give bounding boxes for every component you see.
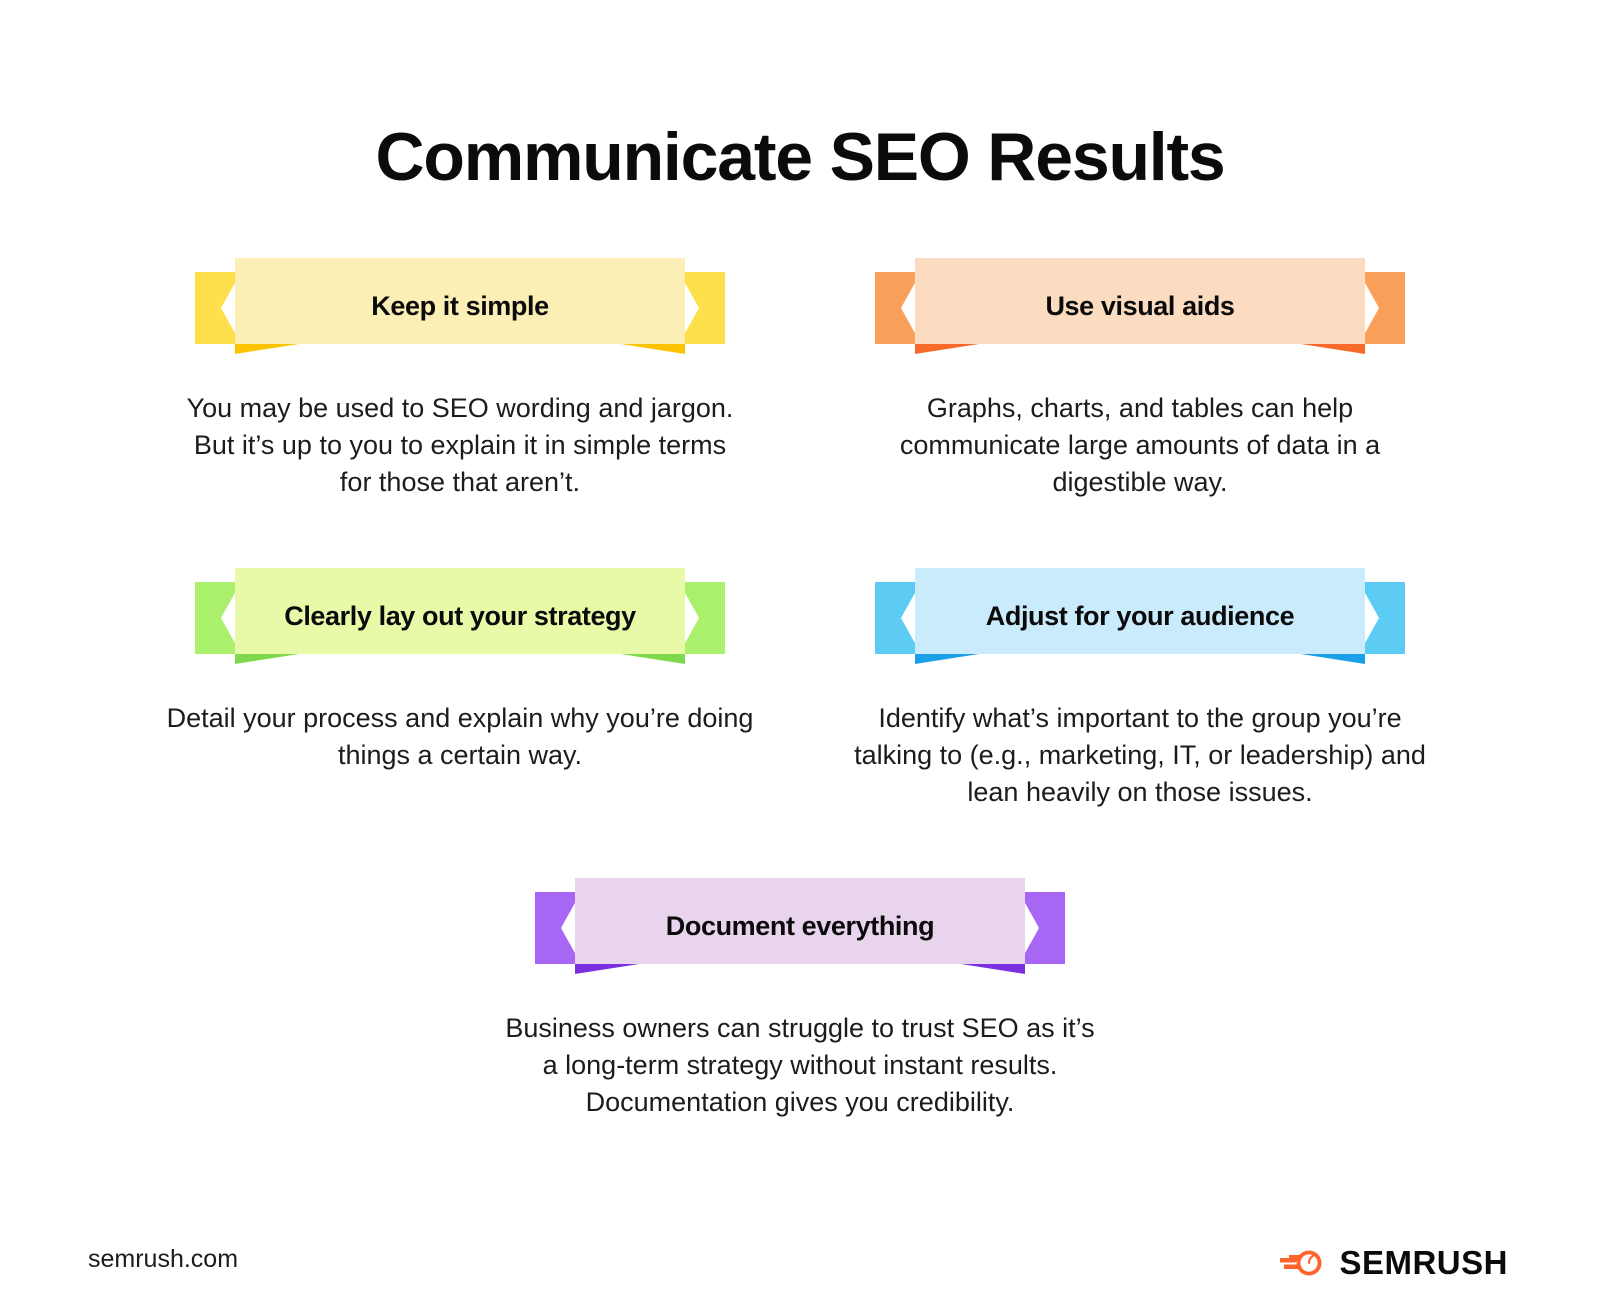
ribbon-center-band — [235, 258, 685, 344]
footer: semrush.com SEMRUSH — [0, 1196, 1600, 1316]
ribbon-shadow-left — [575, 964, 639, 974]
semrush-comet-icon — [1279, 1246, 1325, 1280]
tips-row-1: Keep it simple You may be used to SEO wo… — [0, 258, 1600, 528]
ribbon-shadow-left — [915, 344, 979, 354]
ribbon-shadow-right — [621, 344, 685, 354]
ribbon-wing-left — [535, 892, 581, 964]
tip-body: You may be used to SEO wording and jargo… — [180, 390, 740, 501]
tips-row-3: Document everything Business owners can … — [0, 878, 1600, 1148]
ribbon-shadow-left — [235, 344, 299, 354]
ribbon-shadow-left — [235, 654, 299, 664]
ribbon-shadow-right — [961, 964, 1025, 974]
ribbon-banner-adjust-for-your-audience: Adjust for your audience — [875, 568, 1405, 678]
tip-card-adjust-for-your-audience: Adjust for your audience Identify what’s… — [830, 568, 1450, 838]
ribbon-shadow-right — [1301, 344, 1365, 354]
ribbon-center-band — [235, 568, 685, 654]
ribbon-banner-clearly-lay-out-your-strategy: Clearly lay out your strategy — [195, 568, 725, 678]
ribbon-shape-icon — [195, 568, 725, 678]
ribbon-wing-right — [1359, 582, 1405, 654]
ribbon-shadow-right — [1301, 654, 1365, 664]
brand-logo[interactable]: SEMRUSH — [1279, 1244, 1508, 1282]
ribbon-center-band — [575, 878, 1025, 964]
ribbon-shape-icon — [875, 568, 1405, 678]
ribbon-shadow-left — [915, 654, 979, 664]
tip-body: Detail your process and explain why you’… — [160, 700, 760, 774]
ribbon-shape-icon — [875, 258, 1405, 368]
ribbon-wing-left — [875, 272, 921, 344]
ribbon-center-band — [915, 258, 1365, 344]
site-url[interactable]: semrush.com — [88, 1245, 238, 1274]
tip-body: Business owners can struggle to trust SE… — [500, 1010, 1100, 1121]
tip-body: Graphs, charts, and tables can help comm… — [860, 390, 1420, 501]
tips-row-2: Clearly lay out your strategy Detail you… — [0, 568, 1600, 838]
tip-card-keep-it-simple: Keep it simple You may be used to SEO wo… — [150, 258, 770, 528]
page-title: Communicate SEO Results — [0, 120, 1600, 195]
ribbon-wing-right — [1019, 892, 1065, 964]
brand-wordmark: SEMRUSH — [1339, 1244, 1508, 1282]
ribbon-center-band — [915, 568, 1365, 654]
ribbon-wing-right — [679, 272, 725, 344]
ribbon-shape-icon — [535, 878, 1065, 988]
ribbon-wing-left — [875, 582, 921, 654]
ribbon-wing-left — [195, 272, 241, 344]
ribbon-wing-right — [1359, 272, 1405, 344]
tip-card-use-visual-aids: Use visual aids Graphs, charts, and tabl… — [830, 258, 1450, 528]
ribbon-banner-keep-it-simple: Keep it simple — [195, 258, 725, 368]
ribbon-banner-use-visual-aids: Use visual aids — [875, 258, 1405, 368]
ribbon-wing-right — [679, 582, 725, 654]
tip-card-clearly-lay-out-your-strategy: Clearly lay out your strategy Detail you… — [150, 568, 770, 801]
ribbon-shadow-right — [621, 654, 685, 664]
ribbon-banner-document-everything: Document everything — [535, 878, 1065, 988]
ribbon-shape-icon — [195, 258, 725, 368]
ribbon-wing-left — [195, 582, 241, 654]
tip-body: Identify what’s important to the group y… — [840, 700, 1440, 811]
tip-card-document-everything: Document everything Business owners can … — [490, 878, 1110, 1148]
